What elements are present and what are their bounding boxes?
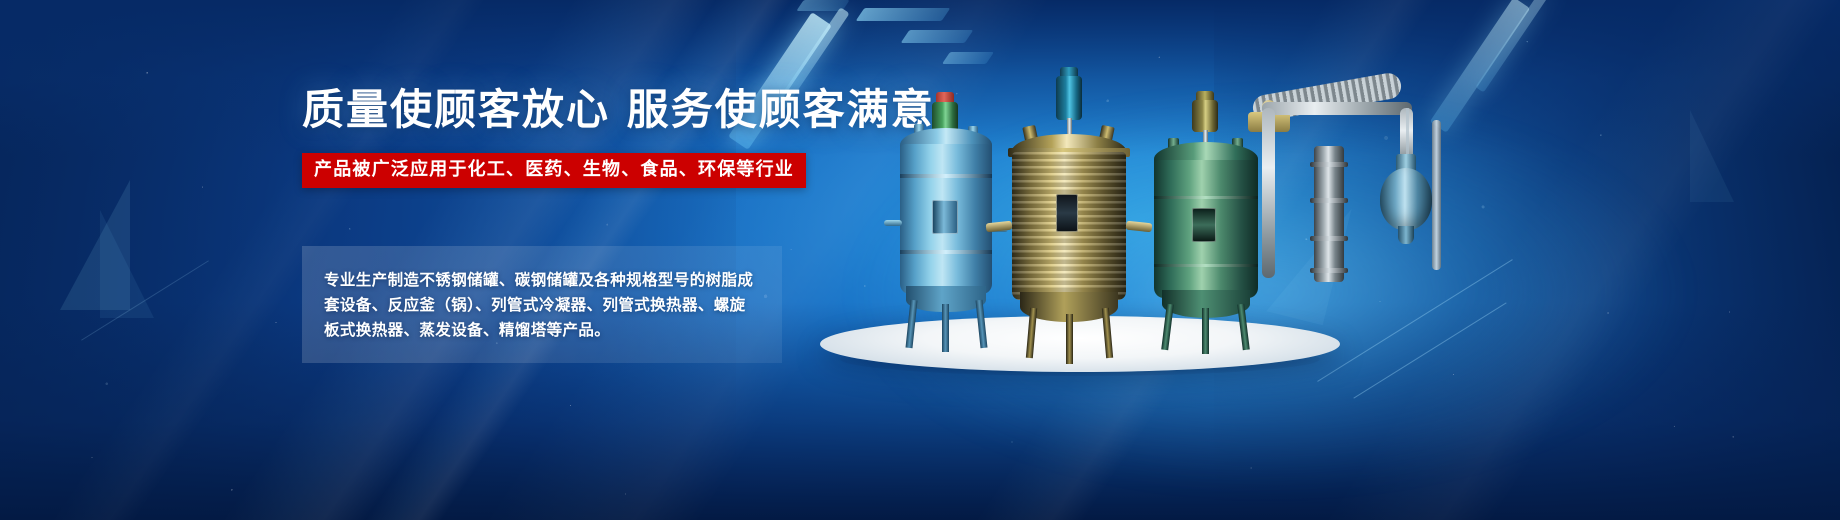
triangle-accent	[1690, 110, 1734, 202]
vertical-pipe	[1262, 108, 1275, 278]
agitator-motor	[1056, 76, 1082, 120]
horizontal-pipe	[1262, 102, 1412, 115]
column-ring	[1310, 236, 1348, 241]
side-pipe	[884, 220, 902, 226]
banner-text-column: 质量使顾客放心 服务使顾客满意 产品被广泛应用于化工、医药、生物、食品、环保等行…	[302, 86, 802, 363]
vessel-side-lug	[986, 221, 1013, 233]
support-leg	[942, 304, 949, 352]
column-ring	[1310, 198, 1348, 203]
pipe-hanger	[1406, 108, 1409, 158]
vertical-pipe	[1432, 120, 1441, 270]
sight-glass	[1056, 194, 1078, 232]
jacketed-reactor-brass	[1006, 76, 1132, 344]
banner-description-text: 专业生产制造不锈钢储罐、碳钢储罐及各种规格型号的树脂成套设备、反应釜（锅）、列管…	[324, 268, 760, 343]
condenser-piping-assembly	[1218, 50, 1448, 330]
sight-glass	[1192, 208, 1216, 242]
banner-description-panel: 专业生产制造不锈钢储罐、碳钢储罐及各种规格型号的树脂成套设备、反应釜（锅）、列管…	[302, 246, 782, 363]
receiver-vessel	[1380, 168, 1432, 230]
vessel-band	[900, 250, 992, 254]
chevron-accent	[856, 8, 951, 21]
support-leg	[1202, 308, 1209, 354]
vessel-band	[900, 174, 992, 178]
support-leg	[1066, 314, 1073, 364]
column-ring	[1310, 268, 1348, 273]
promo-banner: 质量使顾客放心 服务使顾客满意 产品被广泛应用于化工、医药、生物、食品、环保等行…	[0, 0, 1840, 520]
stainless-steel-reactor-blue	[892, 100, 1000, 330]
product-artwork	[820, 30, 1440, 400]
banner-tagline-badge: 产品被广泛应用于化工、医药、生物、食品、环保等行业	[302, 153, 806, 188]
banner-headline: 质量使顾客放心 服务使顾客满意	[302, 86, 802, 135]
triangle-accent	[100, 210, 154, 318]
receiver-drain	[1398, 226, 1414, 244]
sight-glass	[932, 200, 958, 234]
agitator-motor	[1192, 100, 1218, 132]
column-ring	[1310, 162, 1348, 167]
